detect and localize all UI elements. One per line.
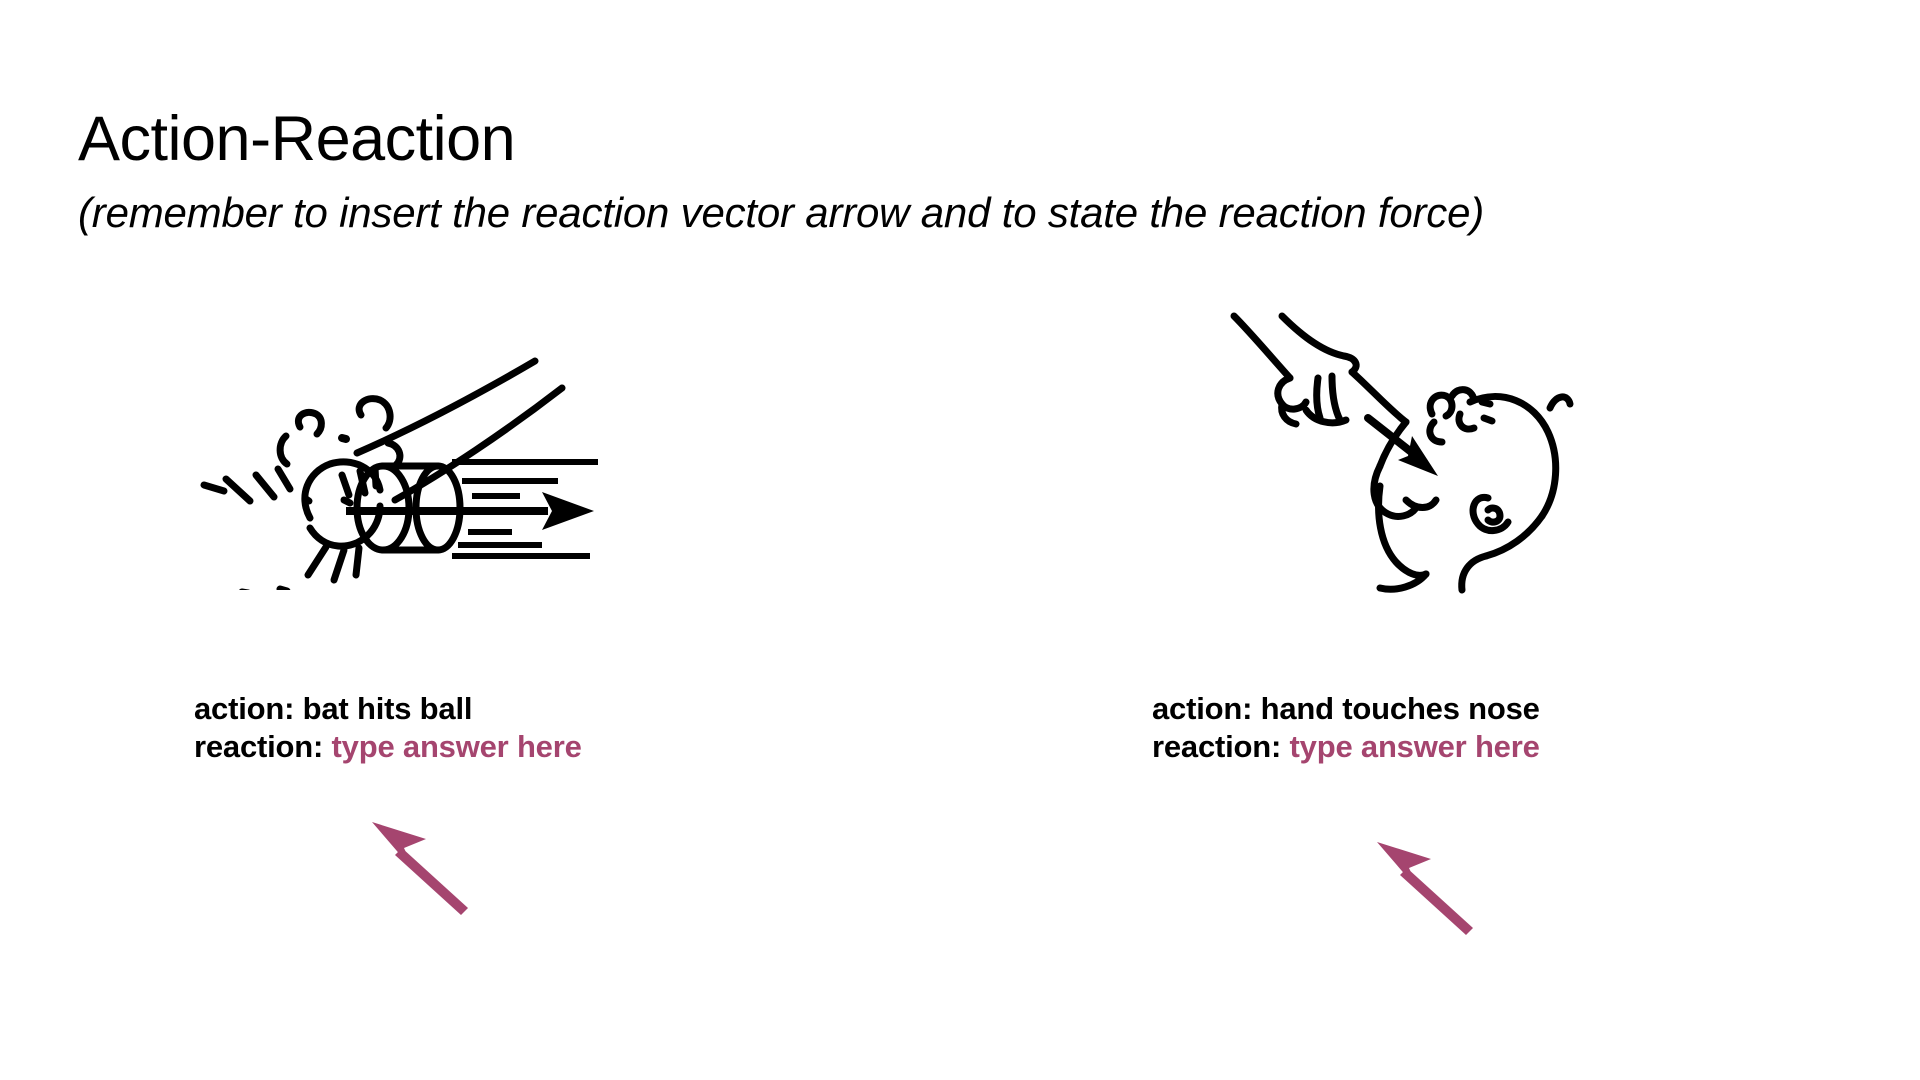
action-label: action: xyxy=(194,691,294,726)
hand-touches-nose-illustration xyxy=(1220,310,1600,600)
action-value: bat hits ball xyxy=(303,691,473,726)
reaction-label: reaction: xyxy=(1152,729,1281,764)
action-label: action: xyxy=(1152,691,1252,726)
page-subtitle: (remember to insert the reaction vector … xyxy=(78,192,1484,234)
action-line: action: hand touches nose xyxy=(1152,690,1540,728)
reaction-answer-field[interactable]: type answer here xyxy=(332,729,582,764)
action-line: action: bat hits ball xyxy=(194,690,582,728)
reaction-label: reaction: xyxy=(194,729,323,764)
reaction-line: reaction: type answer here xyxy=(1152,728,1540,766)
action-value: hand touches nose xyxy=(1261,691,1540,726)
bat-hits-ball-illustration xyxy=(190,340,610,590)
force-arrow-right-icon xyxy=(346,492,594,530)
up-left-arrow-icon[interactable] xyxy=(1375,840,1485,935)
page-title: Action-Reaction xyxy=(78,108,515,171)
slide-canvas: Action-Reaction (remember to insert the … xyxy=(0,0,1920,1080)
reaction-answer-field[interactable]: type answer here xyxy=(1290,729,1540,764)
caption-hand-nose: action: hand touches nose reaction: type… xyxy=(1152,690,1540,766)
caption-bat-ball: action: bat hits ball reaction: type ans… xyxy=(194,690,582,766)
reaction-line: reaction: type answer here xyxy=(194,728,582,766)
up-left-arrow-icon[interactable] xyxy=(370,820,480,915)
